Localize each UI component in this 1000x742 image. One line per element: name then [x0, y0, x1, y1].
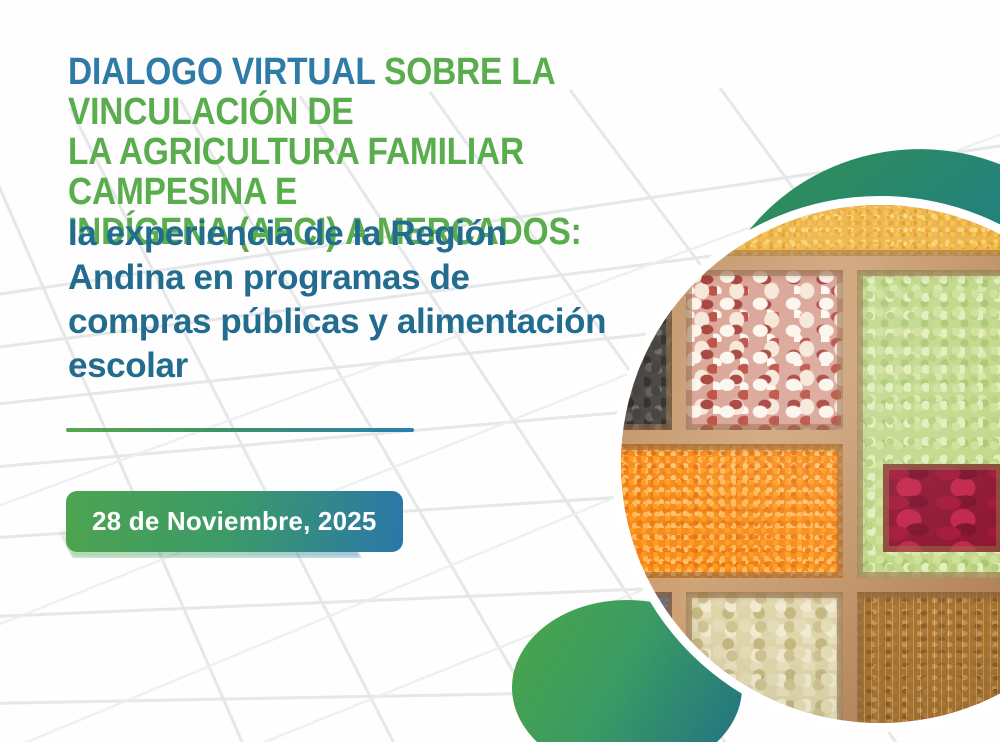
headline-line2: LA AGRICULTURA FAMILIAR CAMPESINA E — [68, 131, 524, 213]
event-date-text: 28 de Noviembre, 2025 — [92, 506, 377, 537]
gradient-divider — [66, 428, 414, 432]
page-subtitle: la experiencia de la Región Andina en pr… — [68, 212, 608, 388]
headline-line1-blue: DIALOGO VIRTUAL — [68, 51, 375, 93]
poster-content: DIALOGO VIRTUAL SOBRE LA VINCULACIÓN DEL… — [0, 0, 1000, 742]
poster-canvas: DIALOGO VIRTUAL SOBRE LA VINCULACIÓN DEL… — [0, 0, 1000, 742]
event-date-badge: 28 de Noviembre, 2025 — [66, 491, 403, 552]
